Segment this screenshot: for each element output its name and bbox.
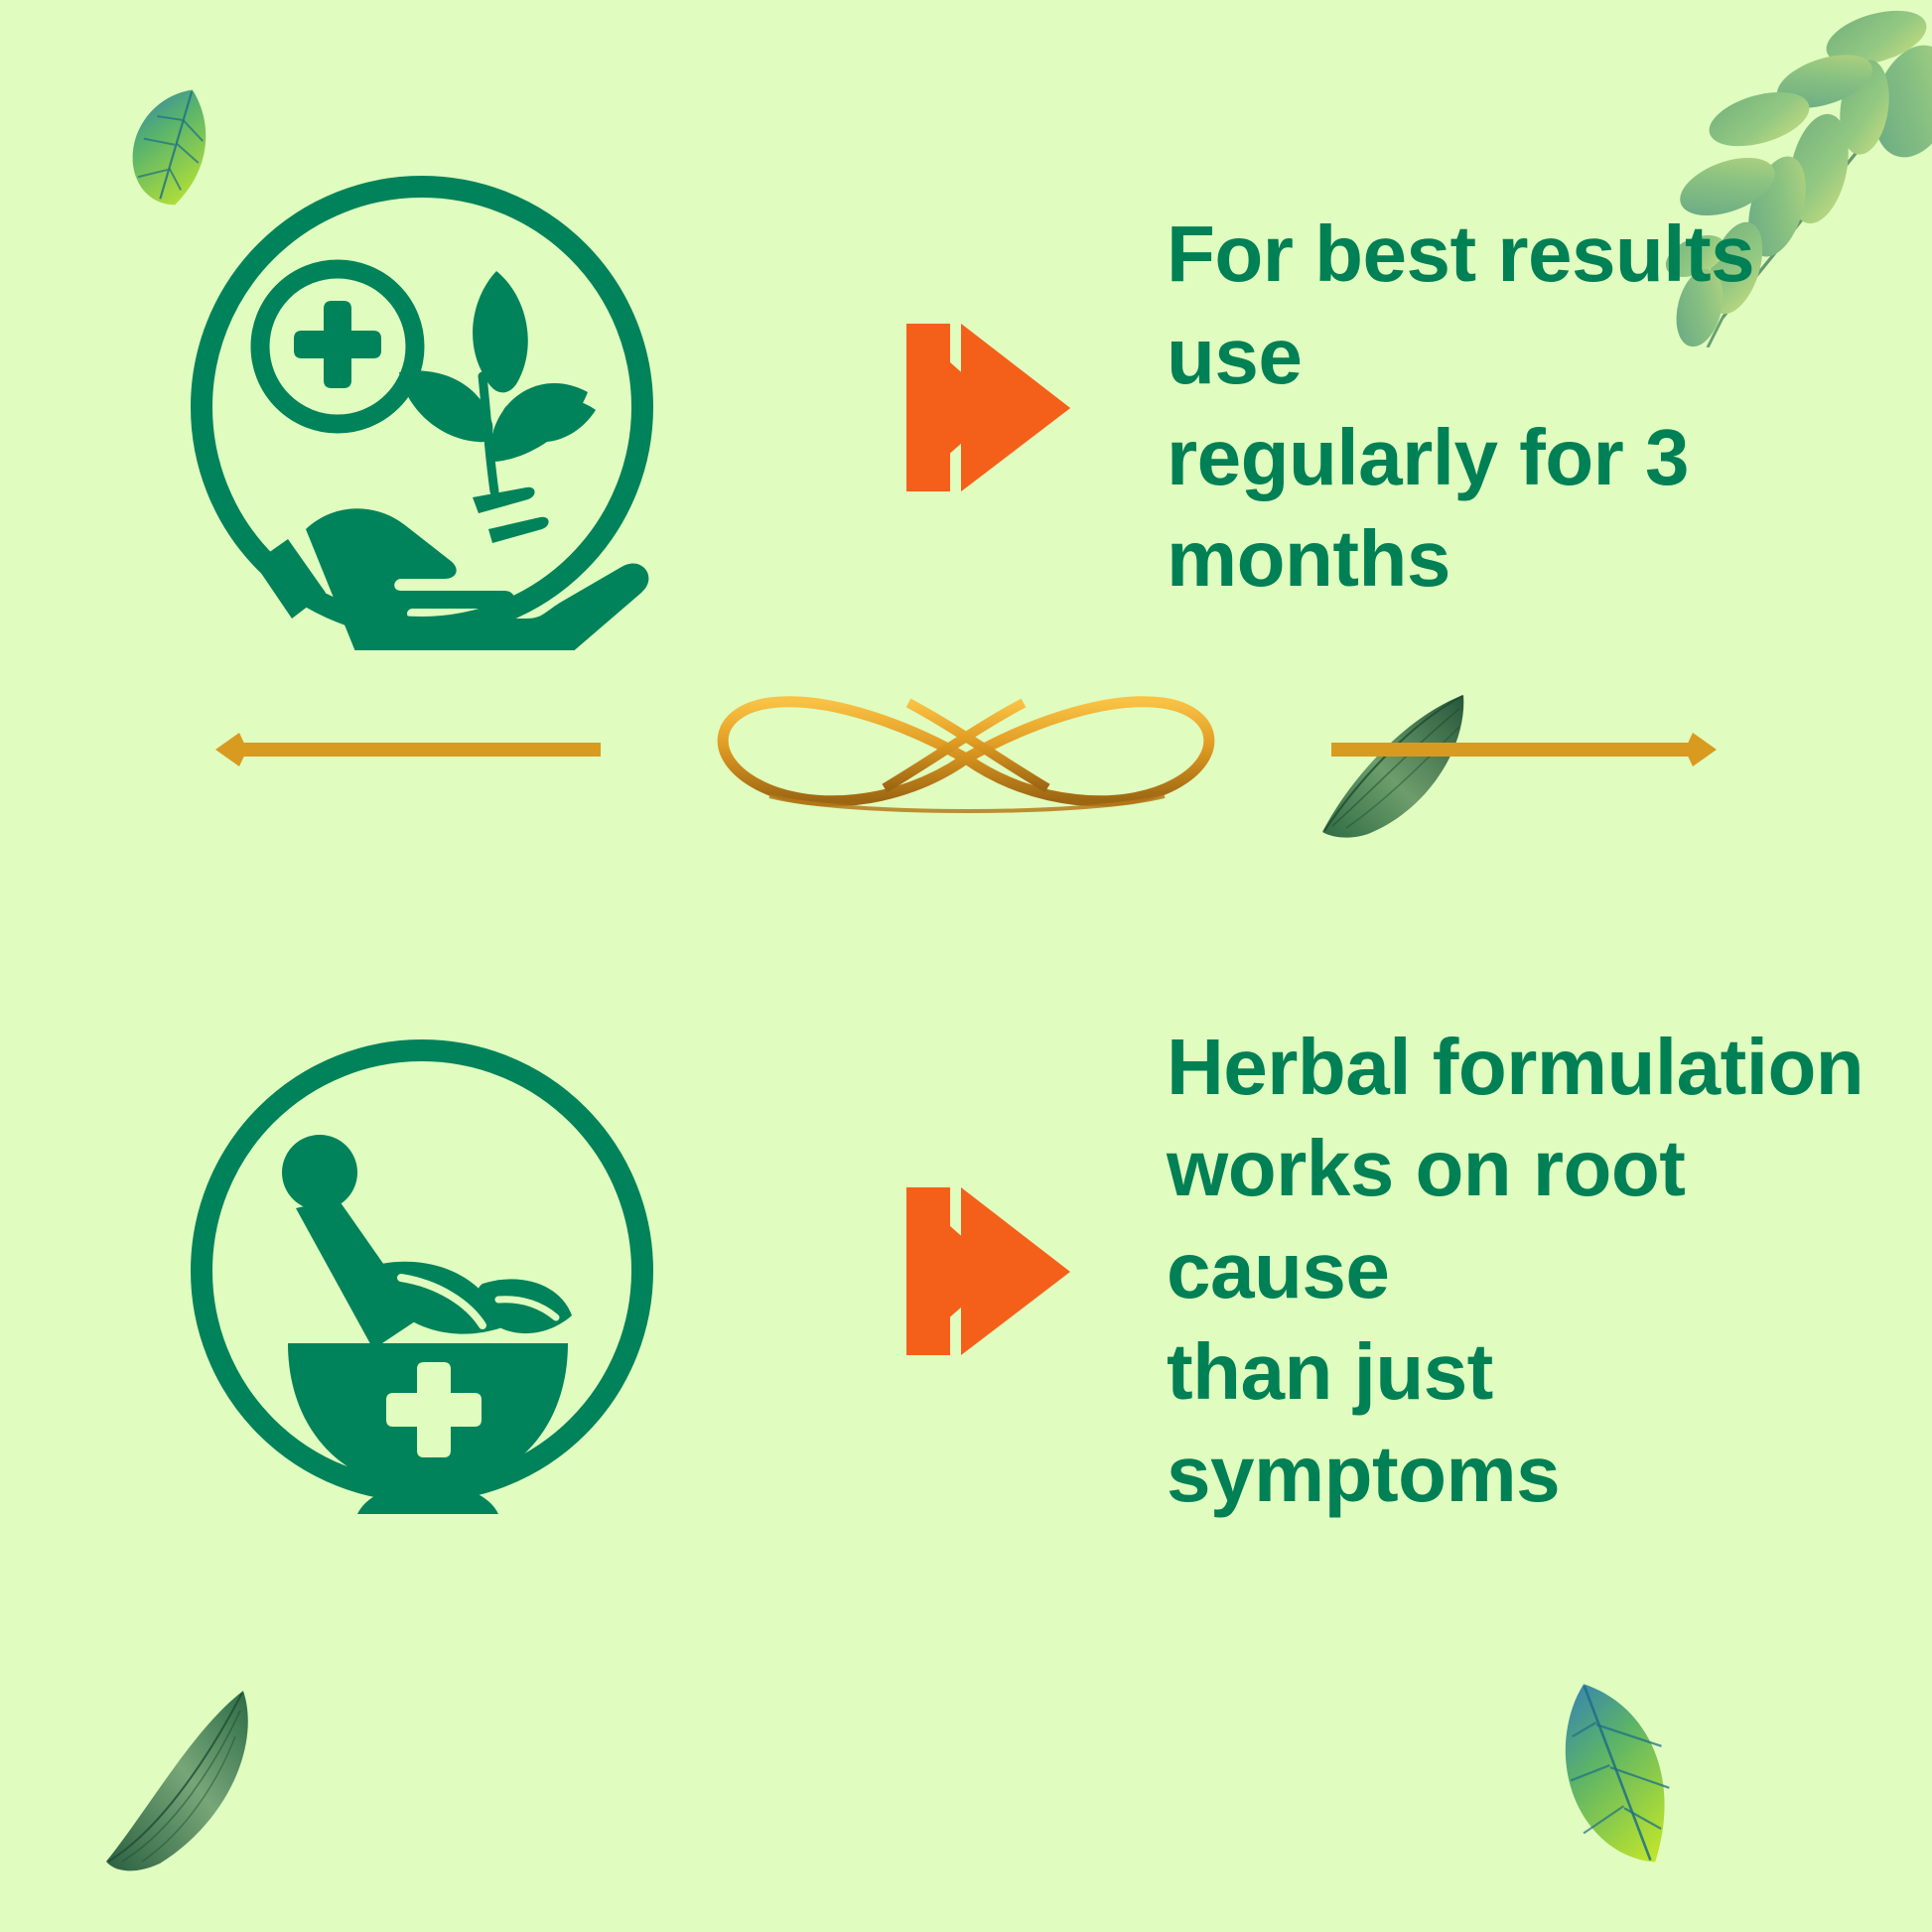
double-chevron-right-icon (889, 1184, 1087, 1358)
feature-text-herbal-formulation: Herbal formulation works on root cause t… (1167, 1017, 1866, 1525)
gold-infinity-flourish-divider (213, 685, 1719, 814)
infographic-canvas: For best results use regularly for 3 mon… (0, 0, 1932, 1932)
leaf-bottom-left (94, 1683, 298, 1886)
feature-text-use-regularly: For best results use regularly for 3 mon… (1167, 204, 1866, 611)
feature-row-herbal-formulation: Herbal formulation works on root cause t… (179, 1013, 1866, 1529)
mortar-and-pestle-with-herbs-icon (179, 1028, 665, 1514)
hand-holding-plant-with-medical-cross-icon (179, 164, 665, 650)
leaf-bottom-right (1527, 1653, 1750, 1876)
feature-row-use-regularly: For best results use regularly for 3 mon… (179, 149, 1866, 665)
double-chevron-right-icon (889, 321, 1087, 494)
